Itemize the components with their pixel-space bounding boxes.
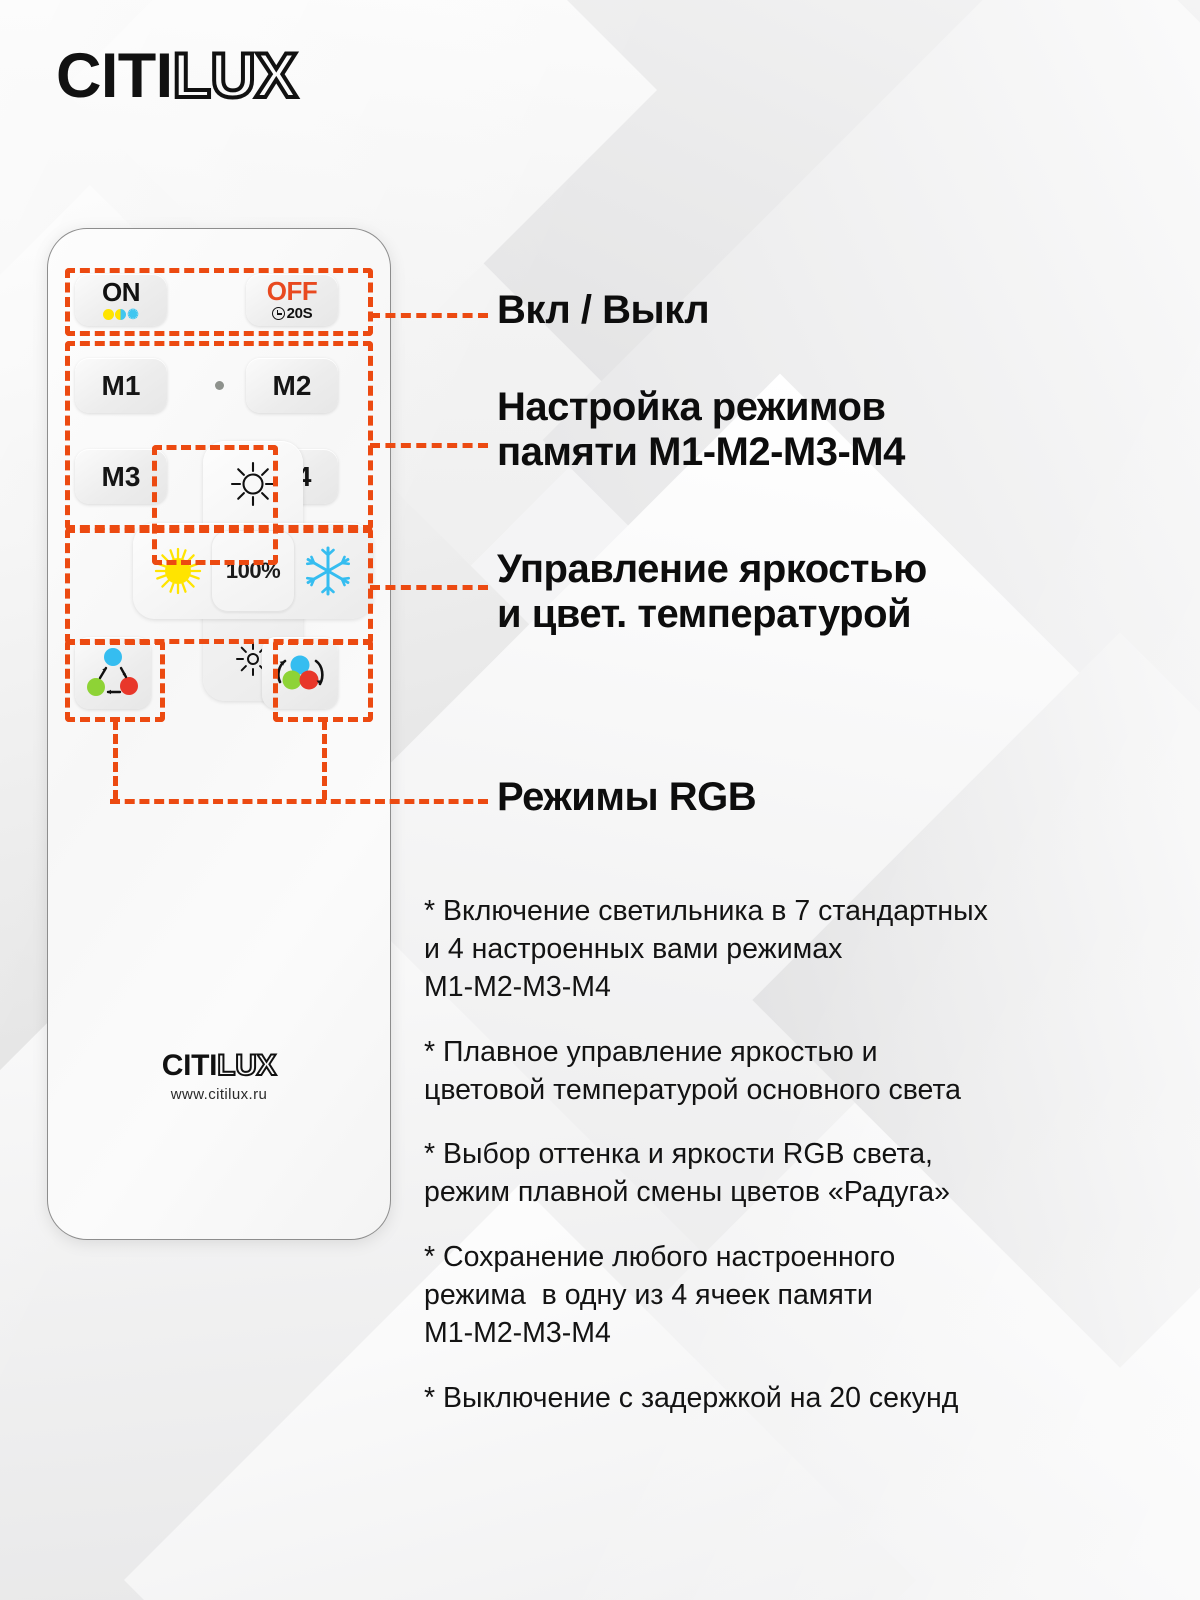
callout-box-brightness [65,528,373,644]
citilux-logo-remote: CITILUX [162,1049,277,1083]
remote-brand-block: CITILUX www.citilux.ru [48,1049,390,1103]
callout-line-onoff [370,313,488,318]
callout-label-rgb: Режимы RGB [497,775,756,820]
callout-label-memory-line2: памяти M1-M2-M3-M4 [497,430,905,475]
callout-box-onoff [65,268,373,336]
citilux-logo: CITILUX [56,40,297,112]
callout-line-rgb-left-vertical [113,720,118,800]
callout-label-onoff: Вкл / Выкл [497,288,709,333]
callout-label-memory-line1: Настройка режимов [497,385,905,430]
feature-list-item: * Выключение с задержкой на 20 секунд [424,1380,1180,1418]
remote-logo-text-lux: LUX [217,1049,276,1083]
feature-list-item: * Плавное управление яркостью и цветовой… [424,1034,1180,1110]
callout-label-brightness-line2: и цвет. температурой [497,592,927,637]
callout-line-rgb-right-vertical [322,720,327,800]
logo-text-lux: LUX [172,40,296,112]
callout-label-brightness-line1: Управление яркостью [497,547,927,592]
remote-website-url: www.citilux.ru [171,1086,267,1103]
callout-line-rgb-horizontal [110,799,488,804]
callout-box-rgb-right [273,640,373,722]
logo-text-citi: CITI [56,40,172,112]
callout-line-memory [370,443,488,448]
feature-list-item: * Выбор оттенка и яркости RGB света, реж… [424,1136,1180,1212]
feature-list: * Включение светильника в 7 стандартных … [424,893,1180,1445]
feature-list-item: * Включение светильника в 7 стандартных … [424,893,1180,1007]
callout-label-memory: Настройка режимов памяти M1-M2-M3-M4 [497,385,905,475]
remote-logo-text-citi: CITI [162,1049,217,1083]
callout-line-brightness [370,585,488,590]
feature-list-item: * Сохранение любого настроенного режима … [424,1239,1180,1353]
callout-box-rgb-left [65,640,165,722]
callout-label-brightness: Управление яркостью и цвет. температурой [497,547,927,637]
